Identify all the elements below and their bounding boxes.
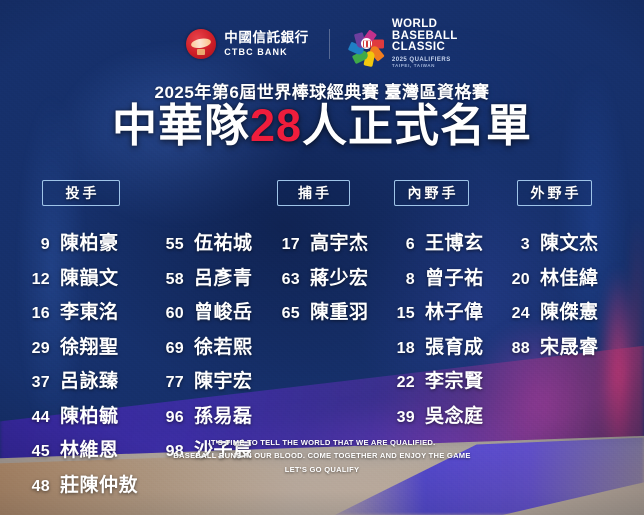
player-number: 9	[18, 236, 50, 254]
player-name: 呂詠臻	[60, 366, 119, 393]
player-row: 17高宇杰	[268, 228, 378, 255]
player-row: 8曾子祐	[383, 263, 495, 290]
player-name: 陳宇宏	[194, 366, 253, 393]
player-number: 18	[383, 340, 415, 358]
player-name: 蔣少宏	[310, 263, 369, 290]
player-name: 李東洺	[60, 297, 119, 324]
player-name: 陳重羽	[310, 297, 369, 324]
player-number: 15	[383, 305, 415, 323]
player-name: 陳文杰	[540, 228, 599, 255]
ctbc-bank-logo: 中國信託銀行 CTBC BANK	[186, 29, 309, 59]
ctbc-name-en: CTBC BANK	[224, 48, 309, 57]
page-title: 中華隊28人正式名單	[0, 102, 644, 151]
player-number: 37	[18, 374, 50, 392]
player-number: 22	[383, 374, 415, 392]
wbc-qualifiers: 2025 QUALIFIERS	[392, 57, 458, 63]
player-number: 20	[498, 271, 530, 289]
ctbc-circle-icon	[186, 29, 216, 59]
player-row: 18張育成	[383, 332, 495, 359]
player-name: 李宗賢	[425, 366, 484, 393]
infielder-list: 6王博玄8曾子祐15林子偉18張育成22李宗賢39吳念庭	[383, 228, 495, 435]
player-number: 44	[18, 409, 50, 427]
player-name: 林佳緯	[540, 263, 599, 290]
player-name: 陳柏毓	[60, 401, 119, 428]
player-name: 陳傑憲	[540, 297, 599, 324]
player-name: 徐若熙	[194, 332, 253, 359]
player-row: 20林佳緯	[498, 263, 610, 290]
player-number: 39	[383, 409, 415, 427]
player-number: 17	[268, 236, 300, 254]
slogan-line-1: IT'S TIME TO TELL THE WORLD THAT WE ARE …	[0, 436, 644, 449]
player-row: 24陳傑憲	[498, 297, 610, 324]
slogan-line-2: BASEBALL RUNS IN OUR BLOOD. COME TOGETHE…	[0, 449, 644, 462]
sponsor-logo-bar: 中國信託銀行 CTBC BANK WORLD	[0, 19, 644, 69]
player-name: 張育成	[425, 332, 484, 359]
player-name: 吳念庭	[425, 401, 484, 428]
player-row: 16李東洺	[18, 297, 136, 324]
player-number: 65	[268, 305, 300, 323]
player-number: 16	[18, 305, 50, 323]
player-number: 69	[152, 340, 184, 358]
title-part-post: 人正式名單	[302, 100, 532, 151]
player-number: 96	[152, 409, 184, 427]
player-row: 15林子偉	[383, 297, 495, 324]
player-name: 曾峻岳	[194, 297, 253, 324]
player-number: 12	[18, 271, 50, 289]
player-row: 39吳念庭	[383, 401, 495, 428]
player-row: 44陳柏毓	[18, 401, 136, 428]
world-baseball-classic-logo: WORLD BASEBALL CLASSIC 2025 QUALIFIERS T…	[350, 19, 458, 69]
player-row: 37呂詠臻	[18, 366, 136, 393]
player-number: 24	[498, 305, 530, 323]
wbc-location: TAIPEI, TAIWAN	[392, 64, 458, 69]
player-name: 陳柏豪	[60, 228, 119, 255]
player-name: 林子偉	[425, 297, 484, 324]
player-row: 88宋晟睿	[498, 332, 610, 359]
player-number: 55	[152, 236, 184, 254]
player-number: 63	[268, 271, 300, 289]
player-number: 29	[18, 340, 50, 358]
section-header-catcher: 捕手	[277, 180, 350, 206]
player-number: 6	[383, 236, 415, 254]
logo-divider	[329, 29, 330, 59]
player-name: 呂彥青	[194, 263, 253, 290]
team-slogan: IT'S TIME TO TELL THE WORLD THAT WE ARE …	[0, 436, 644, 476]
player-number: 58	[152, 271, 184, 289]
title-part-pre: 中華隊	[112, 100, 250, 151]
player-number: 3	[498, 236, 530, 254]
player-name: 陳韻文	[60, 263, 119, 290]
player-row: 55伍祐城	[152, 228, 270, 255]
player-row: 69徐若熙	[152, 332, 270, 359]
player-number: 77	[152, 374, 184, 392]
player-row: 63蔣少宏	[268, 263, 378, 290]
ctbc-name-cn: 中國信託銀行	[224, 31, 309, 45]
player-row: 6王博玄	[383, 228, 495, 255]
player-name: 徐翔聖	[60, 332, 119, 359]
player-row: 58呂彥青	[152, 263, 270, 290]
player-row: 29徐翔聖	[18, 332, 136, 359]
wbc-pinwheel-icon	[350, 27, 384, 61]
player-number: 88	[498, 340, 530, 358]
slogan-line-3: LET'S GO QUALIFY	[0, 463, 644, 476]
section-header-infielder: 內野手	[394, 180, 469, 206]
section-header-pitcher: 投手	[42, 180, 120, 206]
player-row: 12陳韻文	[18, 263, 136, 290]
player-name: 孫易磊	[194, 401, 253, 428]
player-row: 22李宗賢	[383, 366, 495, 393]
title-roster-count: 28	[250, 100, 302, 151]
player-number: 60	[152, 305, 184, 323]
player-number: 48	[18, 478, 50, 496]
player-name: 伍祐城	[194, 228, 253, 255]
player-name: 高宇杰	[310, 228, 369, 255]
player-name: 王博玄	[425, 228, 484, 255]
section-header-outfielder: 外野手	[517, 180, 592, 206]
roster-poster: 中國信託銀行 CTBC BANK WORLD	[0, 0, 644, 515]
outfielder-list: 3陳文杰20林佳緯24陳傑憲88宋晟睿	[498, 228, 610, 366]
player-row: 65陳重羽	[268, 297, 378, 324]
pitcher-list-column-2: 55伍祐城58呂彥青60曾峻岳69徐若熙77陳宇宏96孫易磊98沙子宸	[152, 228, 270, 470]
player-name: 宋晟睿	[540, 332, 599, 359]
player-name: 曾子祐	[425, 263, 484, 290]
wbc-word-world: WORLD	[392, 19, 458, 31]
player-row: 9陳柏豪	[18, 228, 136, 255]
player-row: 77陳宇宏	[152, 366, 270, 393]
player-row: 3陳文杰	[498, 228, 610, 255]
player-number: 8	[383, 271, 415, 289]
catcher-list: 17高宇杰63蔣少宏65陳重羽	[268, 228, 378, 332]
player-row: 60曾峻岳	[152, 297, 270, 324]
player-row: 96孫易磊	[152, 401, 270, 428]
wbc-word-classic: CLASSIC	[392, 42, 458, 54]
